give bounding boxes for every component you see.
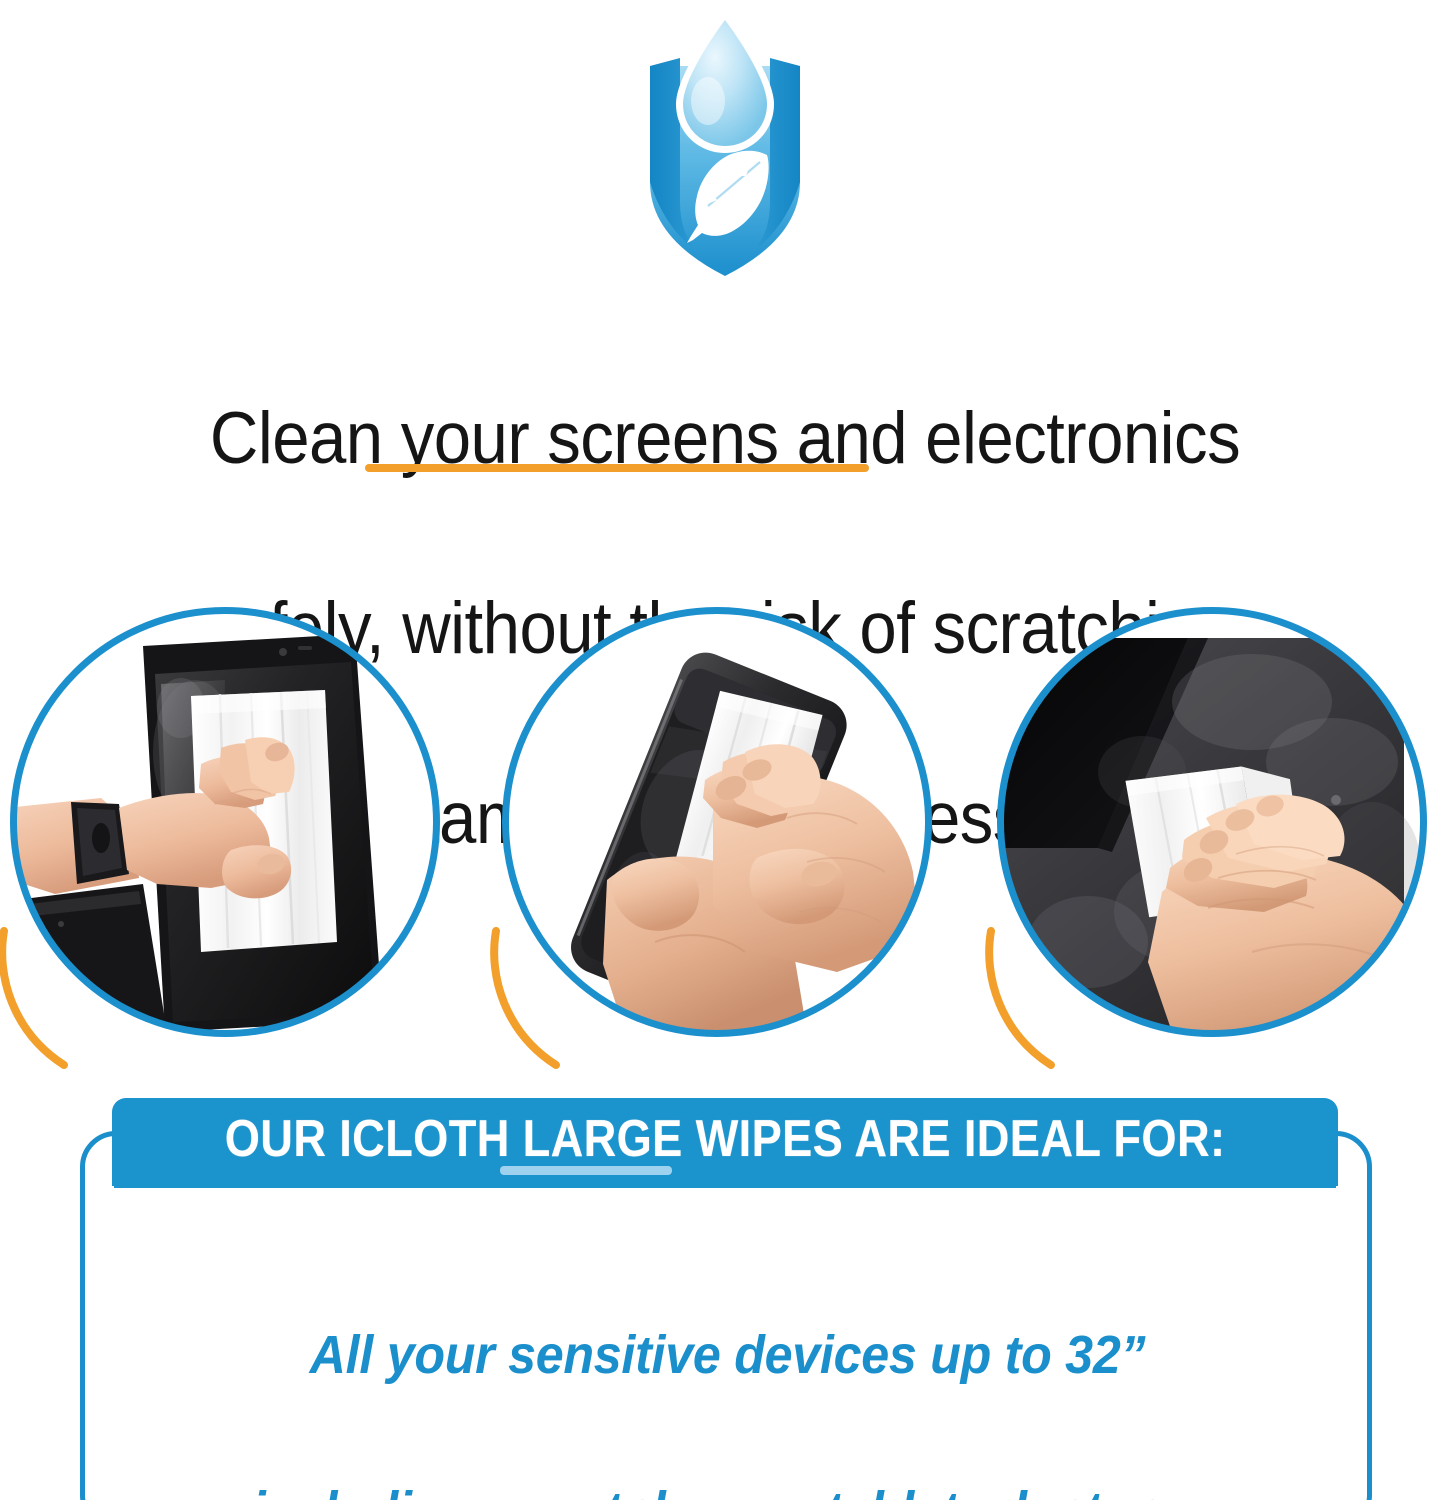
photo-smartphone-wipe — [502, 607, 932, 1037]
photo-tablet-screen-wipe — [997, 607, 1427, 1037]
photo-laptop-screen-wipe-image — [15, 612, 435, 1032]
droplet-highlight — [691, 77, 725, 125]
photo-laptop-screen-wipe — [10, 607, 440, 1037]
ideal-for-line-1: All your sensitive devices up to 32” — [135, 1316, 1321, 1394]
ideal-for-description: All your sensitive devices up to 32” inc… — [135, 1238, 1321, 1500]
ideal-for-line-2: including smartphones, tablets, laptops, — [135, 1472, 1321, 1500]
headline-orange-underline — [365, 464, 869, 472]
ideal-for-banner-label: OUR ICLOTH LARGE WIPES ARE IDEAL FOR: — [225, 1113, 1226, 1165]
ideal-for-banner: OUR ICLOTH LARGE WIPES ARE IDEAL FOR: — [112, 1098, 1338, 1186]
photo-tablet-screen-wipe-image — [1002, 612, 1422, 1032]
water-droplet-icon — [683, 20, 767, 146]
large-word-underline — [500, 1166, 672, 1175]
photo-smartphone-wipe-image — [507, 612, 927, 1032]
brand-shield-logo — [634, 6, 816, 278]
infographic-page: Clean your screens and electronics safel… — [0, 0, 1450, 1500]
